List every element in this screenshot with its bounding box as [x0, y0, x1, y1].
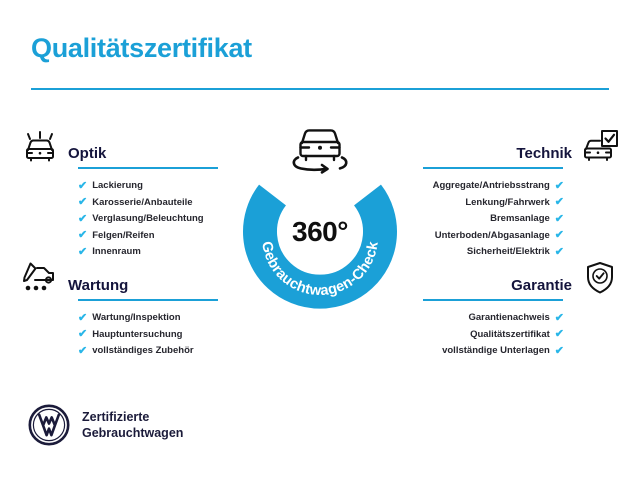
- list-item-label: vollständiges Zubehör: [92, 343, 193, 360]
- list-item: ✔vollständiges Zubehör: [78, 343, 235, 360]
- page-title: Qualitätszertifikat: [31, 33, 252, 64]
- car-rotation-360-icon: [281, 119, 359, 175]
- list-item: ✔Karosserie/Anbauteile: [78, 195, 235, 212]
- quality-certificate-page: { "header": { "title": "Qualitätszertifi…: [0, 0, 640, 480]
- list-item-label: Garantienachweis: [468, 310, 549, 327]
- check-icon: ✔: [78, 214, 87, 225]
- list-item-label: Verglasung/Beleuchtung: [92, 211, 203, 228]
- section-divider-optik: [78, 167, 218, 169]
- list-item-label: Lackierung: [92, 178, 143, 195]
- car-checkbox-icon: [580, 128, 620, 164]
- check-icon: ✔: [555, 329, 564, 340]
- section-divider-garantie: [423, 299, 563, 301]
- list-item: ✔Wartung/Inspektion: [78, 310, 235, 327]
- list-item-label: Qualitätszertifikat: [470, 327, 550, 344]
- list-item-label: Karosserie/Anbauteile: [92, 195, 192, 212]
- list-item: ✔Felgen/Reifen: [78, 228, 235, 245]
- list-item: Unterboden/Abgasanlage✔: [405, 228, 564, 245]
- footer-line-1: Zertifizierte: [82, 410, 149, 424]
- list-item: ✔Hauptuntersuchung: [78, 327, 235, 344]
- footer-logo-text: Zertifizierte Gebrauchtwagen: [82, 409, 183, 441]
- check-icon: ✔: [555, 313, 564, 324]
- section-title-technik: Technik: [508, 145, 580, 164]
- check-icon: ✔: [555, 346, 564, 357]
- section-wartung: Wartung ✔Wartung/Inspektion ✔Hauptunters…: [20, 258, 235, 360]
- volkswagen-logo-icon: [28, 404, 70, 446]
- checklist-optik: ✔Lackierung ✔Karosserie/Anbauteile ✔Verg…: [20, 178, 235, 261]
- shield-check-icon: [580, 260, 620, 296]
- section-garantie: Garantie Garantienachweis✔ Qualitätszert…: [405, 258, 620, 360]
- list-item: ✔Verglasung/Beleuchtung: [78, 211, 235, 228]
- section-divider-technik: [423, 167, 563, 169]
- footer-logo: Zertifizierte Gebrauchtwagen: [28, 404, 183, 446]
- check-icon: ✔: [555, 197, 564, 208]
- check-icon: ✔: [78, 329, 87, 340]
- badge-degrees-label: 360°: [238, 216, 402, 248]
- list-item-label: Aggregate/Antriebsstrang: [433, 178, 550, 195]
- list-item-label: Hauptuntersuchung: [92, 327, 182, 344]
- section-title-garantie: Garantie: [503, 277, 580, 296]
- check-icon: ✔: [555, 181, 564, 192]
- check-icon: ✔: [555, 247, 564, 258]
- footer-line-2: Gebrauchtwagen: [82, 426, 183, 440]
- list-item-label: Felgen/Reifen: [92, 228, 154, 245]
- section-divider-wartung: [78, 299, 218, 301]
- checklist-garantie: Garantienachweis✔ Qualitätszertifikat✔ v…: [405, 310, 620, 360]
- section-technik: Technik Aggregate/Antriebsstrang✔ Lenkun…: [405, 126, 620, 261]
- check-icon: ✔: [78, 230, 87, 241]
- section-optik: Optik ✔Lackierung ✔Karosserie/Anbauteile…: [20, 126, 235, 261]
- list-item: Qualitätszertifikat✔: [405, 327, 564, 344]
- check-icon: ✔: [78, 313, 87, 324]
- list-item-label: vollständige Unterlagen: [442, 343, 550, 360]
- list-item-label: Lenkung/Fahrwerk: [465, 195, 549, 212]
- list-item-label: Bremsanlage: [490, 211, 550, 228]
- pen-car-service-icon: [20, 260, 60, 296]
- section-title-optik: Optik: [60, 145, 114, 164]
- check-icon: ✔: [78, 346, 87, 357]
- checklist-wartung: ✔Wartung/Inspektion ✔Hauptuntersuchung ✔…: [20, 310, 235, 360]
- check-icon: ✔: [78, 181, 87, 192]
- list-item: ✔Lackierung: [78, 178, 235, 195]
- section-title-wartung: Wartung: [60, 277, 136, 296]
- check-icon: ✔: [555, 230, 564, 241]
- car-shine-icon: [20, 128, 60, 164]
- list-item-label: Wartung/Inspektion: [92, 310, 180, 327]
- list-item: Bremsanlage✔: [405, 211, 564, 228]
- checklist-technik: Aggregate/Antriebsstrang✔ Lenkung/Fahrwe…: [405, 178, 620, 261]
- list-item: Lenkung/Fahrwerk✔: [405, 195, 564, 212]
- check-icon: ✔: [78, 197, 87, 208]
- list-item-label: Unterboden/Abgasanlage: [435, 228, 550, 245]
- list-item: vollständige Unterlagen✔: [405, 343, 564, 360]
- check-icon: ✔: [555, 214, 564, 225]
- title-divider: [31, 88, 609, 90]
- list-item: Garantienachweis✔: [405, 310, 564, 327]
- list-item: Aggregate/Antriebsstrang✔: [405, 178, 564, 195]
- check-icon: ✔: [78, 247, 87, 258]
